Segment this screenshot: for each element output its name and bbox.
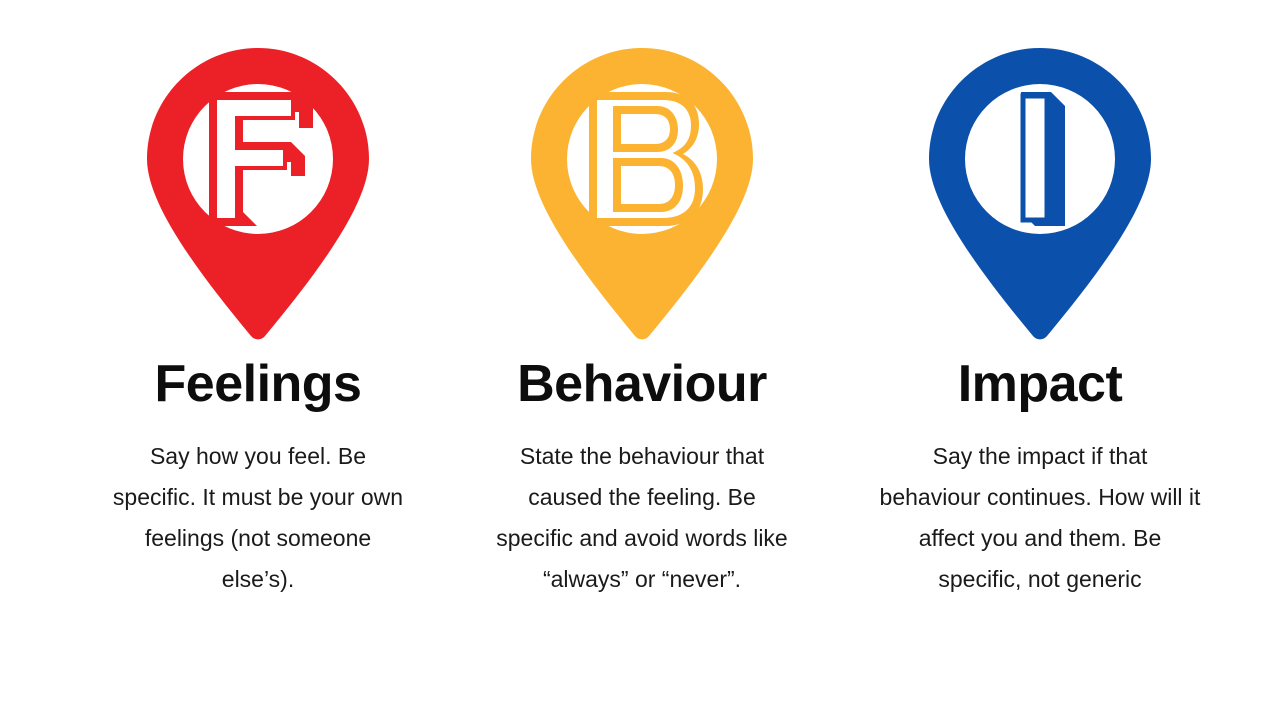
pin-letter-b [589, 92, 703, 226]
map-pin-icon [527, 44, 757, 344]
pin-letter-i [1021, 92, 1065, 226]
slide-canvas: Feelings Say how you feel. Be specific. … [0, 0, 1280, 720]
column-body-feelings: Say how you feel. Be specific. It must b… [108, 436, 408, 600]
pin-body-shape [147, 48, 369, 339]
column-heading-impact: Impact [958, 358, 1123, 410]
map-pin-icon [143, 44, 373, 344]
column-body-impact: Say the impact if that behaviour continu… [879, 436, 1201, 600]
map-pin-icon [925, 44, 1155, 344]
column-behaviour: Behaviour State the behaviour that cause… [450, 0, 834, 600]
column-group: Feelings Say how you feel. Be specific. … [0, 0, 1280, 660]
column-impact: Impact Say the impact if that behaviour … [848, 0, 1232, 600]
column-body-behaviour: State the behaviour that caused the feel… [487, 436, 797, 600]
pin-letter-f [209, 92, 313, 226]
column-heading-feelings: Feelings [155, 358, 362, 410]
column-feelings: Feelings Say how you feel. Be specific. … [66, 0, 450, 600]
map-pin-icon-behaviour [527, 44, 757, 344]
map-pin-icon-impact [925, 44, 1155, 344]
column-heading-behaviour: Behaviour [517, 358, 767, 410]
pin-body-shape [531, 48, 753, 339]
map-pin-icon-feelings [143, 44, 373, 344]
